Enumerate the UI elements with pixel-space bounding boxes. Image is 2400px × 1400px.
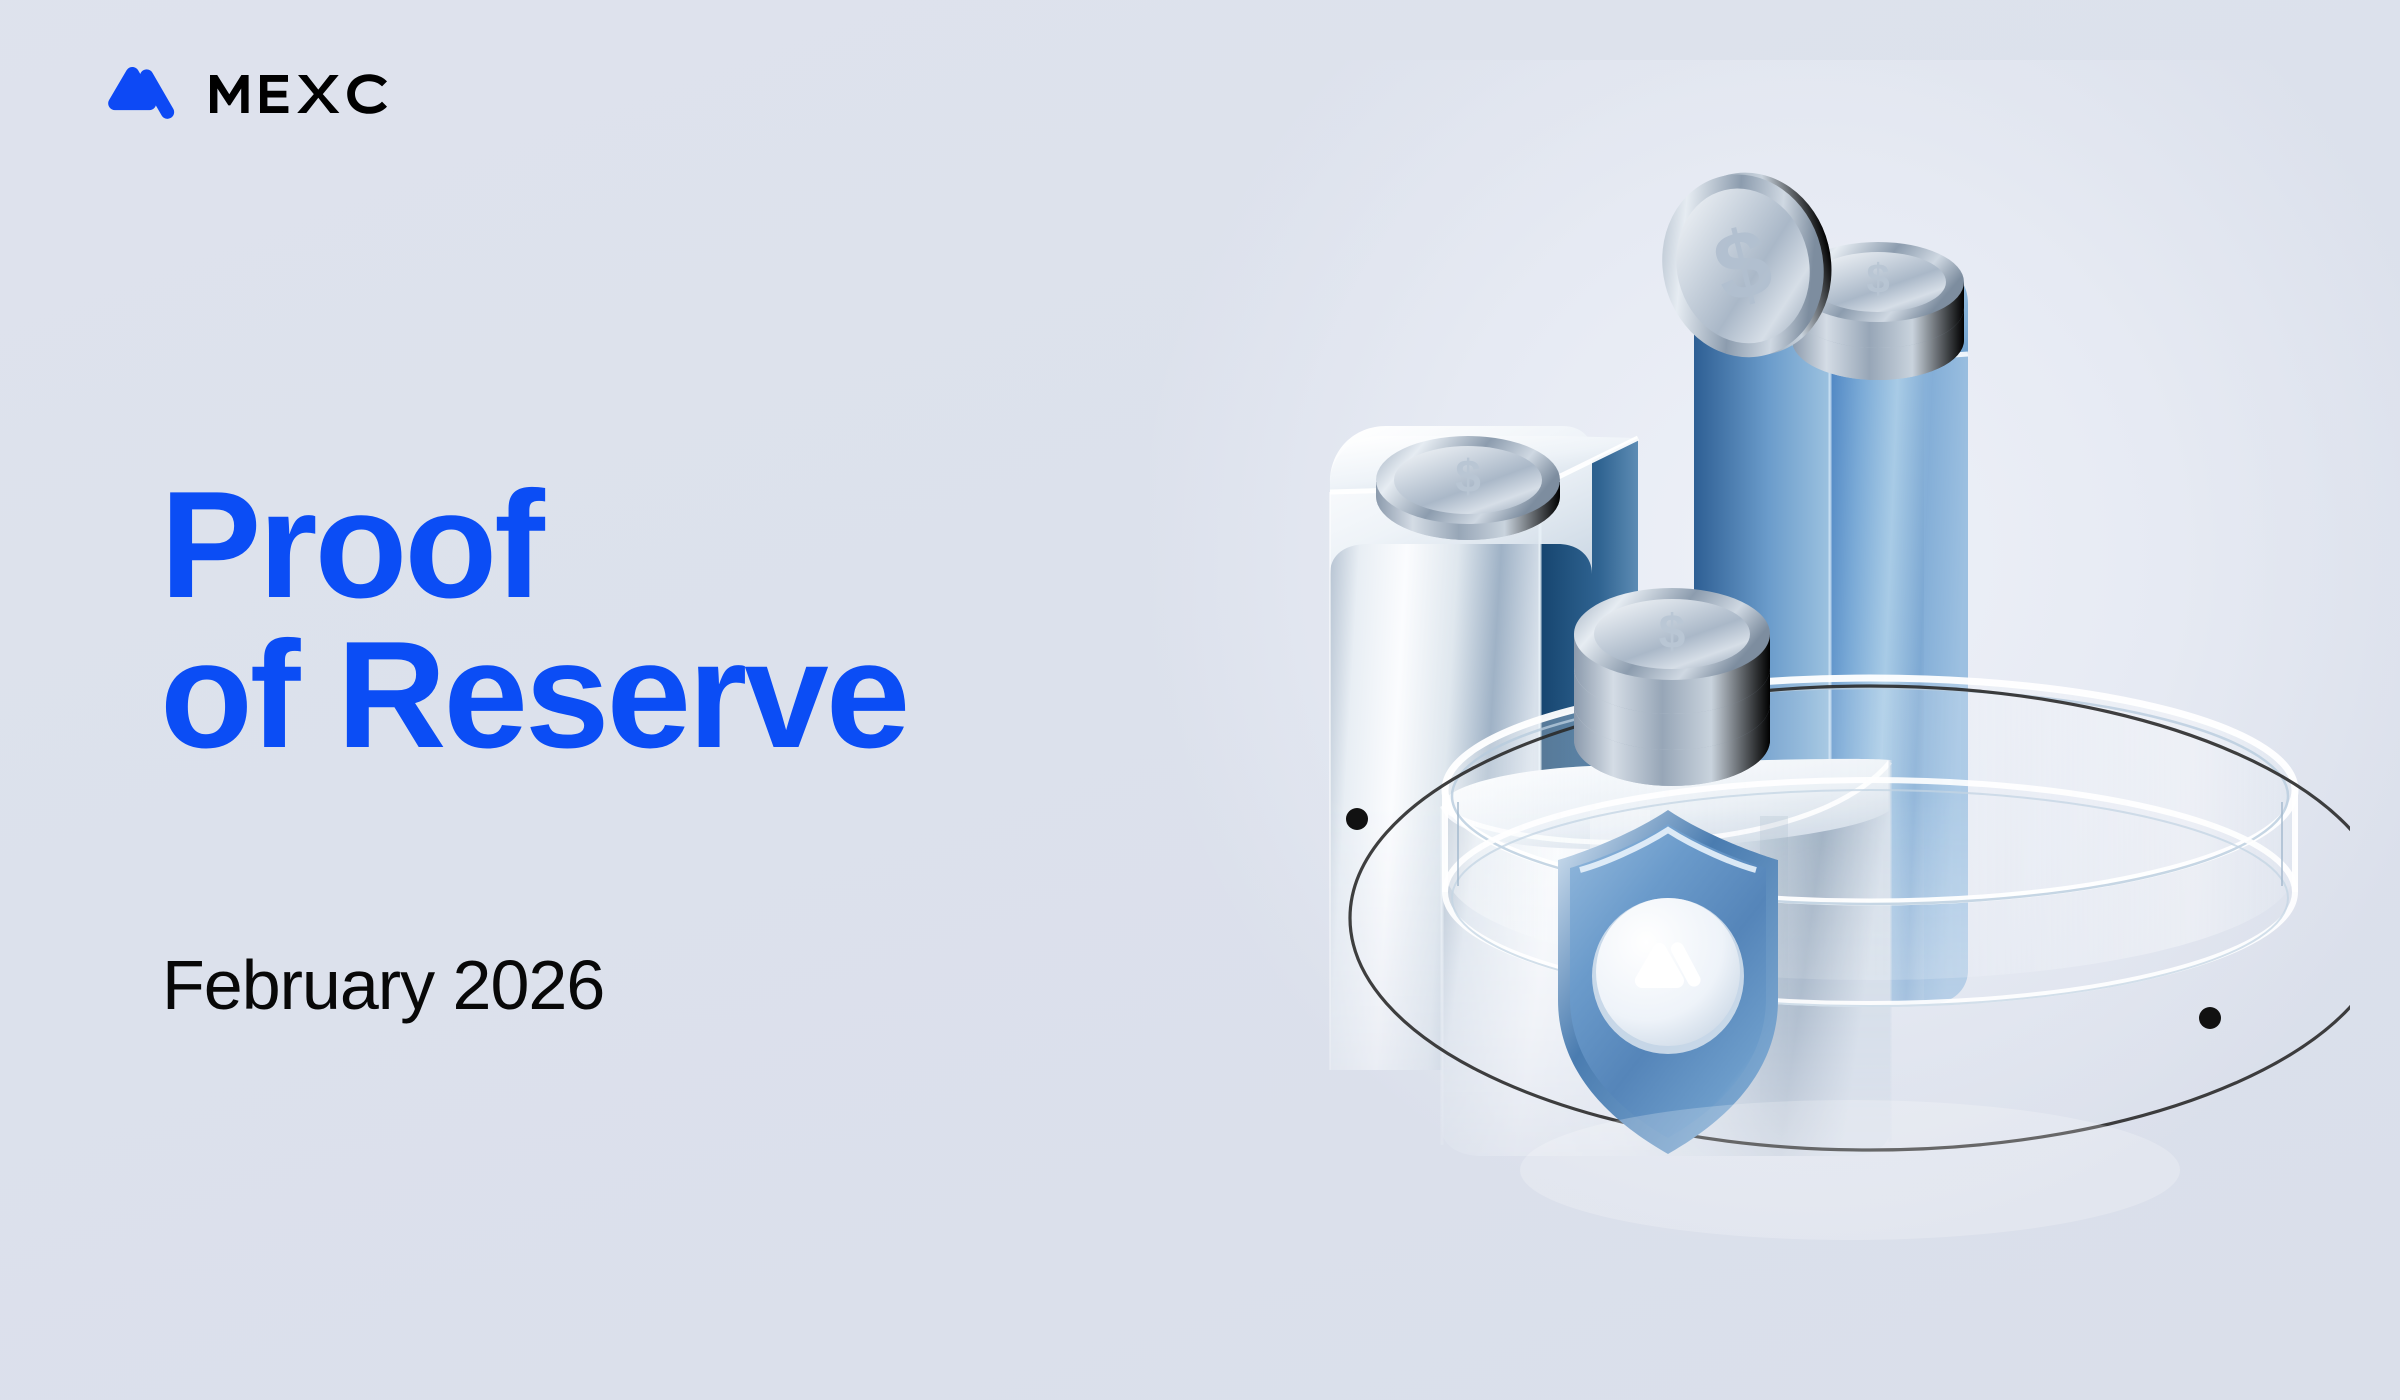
proof-of-reserve-illustration: $ $ $ (1290, 170, 2350, 1250)
mexc-logo-mark-icon (100, 66, 182, 122)
mexc-logo[interactable] (100, 66, 404, 122)
coin-single-left: $ (1376, 436, 1560, 540)
mexc-wordmark (208, 72, 404, 116)
hero-title-line-1: Proof (160, 470, 907, 620)
illustration-svg: $ $ $ (1290, 170, 2350, 1250)
poster-canvas: Proof of Reserve February 2026 (0, 0, 2400, 1400)
orbit-dot-right (2199, 1007, 2221, 1029)
hero-subtitle: February 2026 (162, 950, 604, 1020)
hero-title: Proof of Reserve (160, 470, 907, 771)
coin-dollar-symbol: $ (1455, 450, 1481, 502)
coin-dollar-symbol: $ (1659, 606, 1686, 659)
orbit-dot-left (1346, 808, 1368, 830)
coin-dollar-symbol: $ (1866, 255, 1889, 302)
coin-stack-front: $ (1574, 588, 1770, 786)
coin-stack-blue-bar: $ $ (1643, 170, 1964, 380)
hero-title-line-2: of Reserve (160, 620, 907, 770)
